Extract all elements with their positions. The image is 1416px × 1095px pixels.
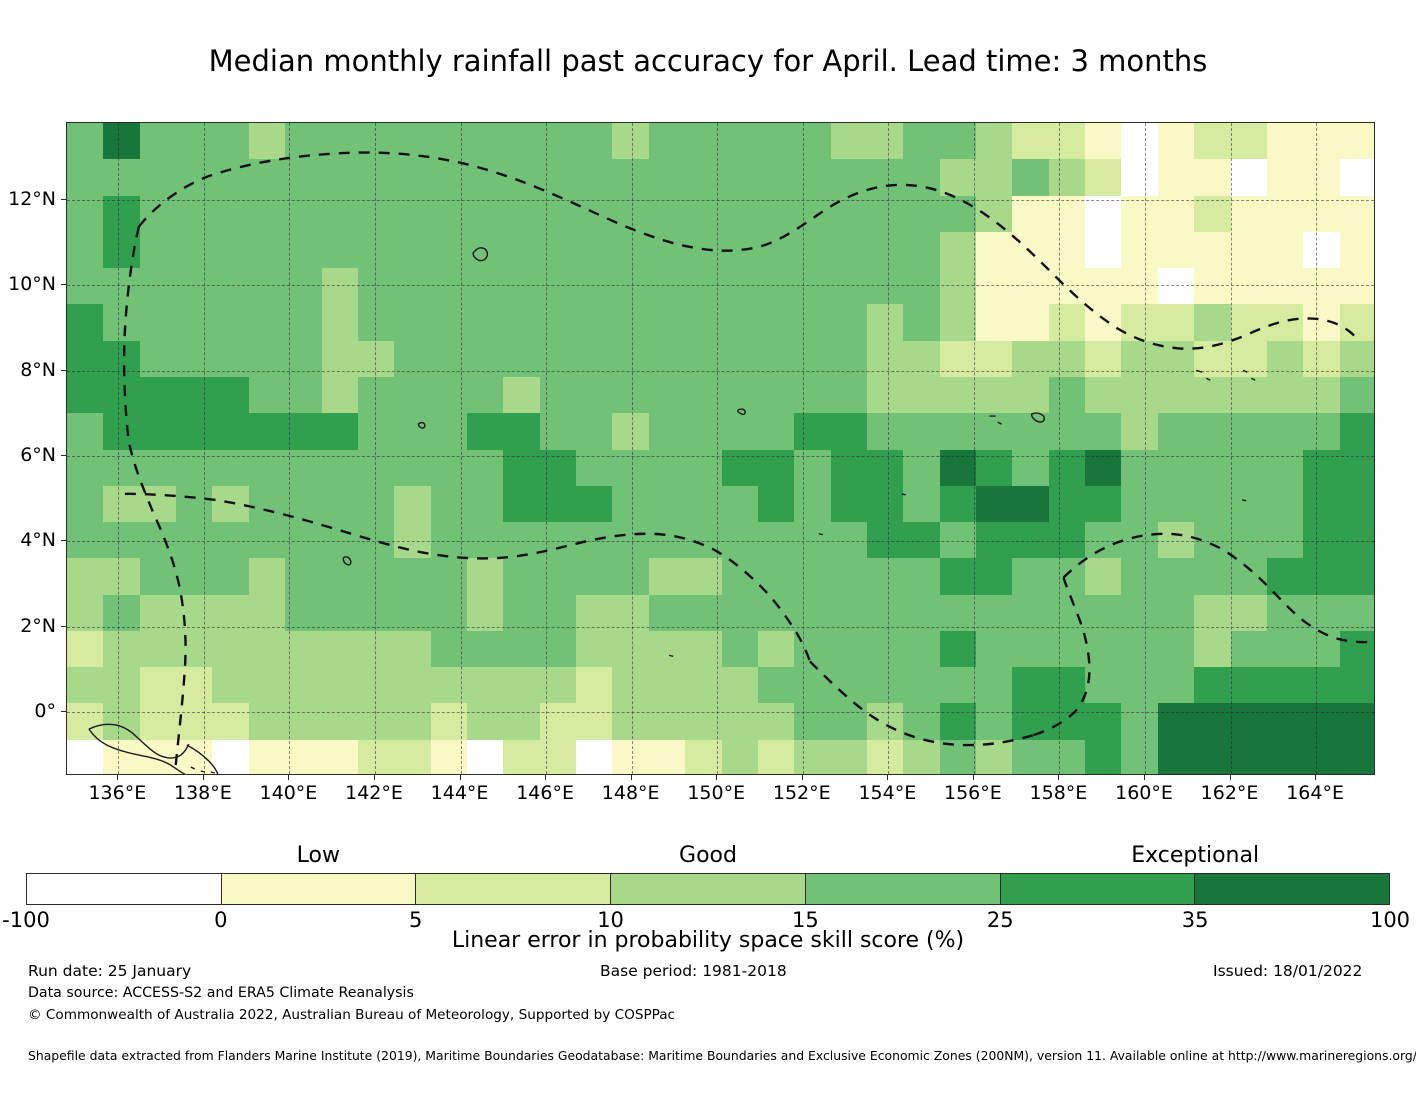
heatmap-cell (1121, 667, 1158, 704)
heatmap-cell (358, 450, 395, 487)
heatmap-cell (976, 413, 1013, 450)
heatmap-cell (1158, 232, 1195, 269)
heatmap-cell (1267, 123, 1304, 160)
colorbar-segment (415, 874, 610, 904)
heatmap-cell (467, 341, 504, 378)
heatmap-cell (831, 595, 868, 632)
heatmap-cell (285, 268, 322, 305)
heatmap-cell (1049, 304, 1086, 341)
heatmap-cell (903, 123, 940, 160)
heatmap-cell (1267, 196, 1304, 233)
x-tick-mark (117, 775, 118, 780)
heatmap-cell (285, 450, 322, 487)
heatmap-cell (431, 740, 468, 775)
heatmap-cell (794, 486, 831, 523)
heatmap-cell (685, 123, 722, 160)
heatmap-cell (1012, 486, 1049, 523)
heatmap-cell (540, 123, 577, 160)
heatmap-cell (867, 631, 904, 668)
heatmap-cell (431, 703, 468, 740)
heatmap-cell (67, 450, 104, 487)
heatmap-cell (1085, 740, 1122, 775)
heatmap-cell (394, 159, 431, 196)
heatmap-cell (249, 667, 286, 704)
heatmap-cell (1194, 486, 1231, 523)
heatmap-cell (649, 558, 686, 595)
heatmap-cell (140, 703, 177, 740)
heatmap-cell (103, 558, 140, 595)
heatmap-cell (794, 703, 831, 740)
heatmap-cell (722, 522, 759, 559)
heatmap-cell (976, 304, 1013, 341)
heatmap-cell (1012, 232, 1049, 269)
heatmap-cell (576, 268, 613, 305)
heatmap-cell (576, 486, 613, 523)
y-tick-mark (61, 626, 66, 627)
heatmap-cell (1012, 703, 1049, 740)
heatmap-cell (758, 558, 795, 595)
heatmap-cell (1194, 703, 1231, 740)
heatmap-cell (467, 703, 504, 740)
heatmap-cell (612, 159, 649, 196)
heatmap-cell (576, 450, 613, 487)
heatmap-cell (976, 123, 1013, 160)
heatmap-cell (1121, 196, 1158, 233)
heatmap-cell (758, 232, 795, 269)
heatmap-cell (1012, 667, 1049, 704)
heatmap-cell (503, 522, 540, 559)
heatmap-cell (758, 703, 795, 740)
colorbar[interactable] (26, 873, 1390, 905)
y-tick-label: 8°N (0, 359, 56, 381)
heatmap-cell (940, 667, 977, 704)
heatmap-cell (1303, 268, 1340, 305)
heatmap-cell (1121, 631, 1158, 668)
heatmap-cell (394, 413, 431, 450)
heatmap-cell (249, 522, 286, 559)
heatmap-cell (612, 232, 649, 269)
heatmap-cell (1231, 413, 1268, 450)
heatmap-cell (867, 667, 904, 704)
heatmap-cell (867, 595, 904, 632)
heatmap-cell (358, 413, 395, 450)
heatmap-cell (1231, 631, 1268, 668)
heatmap-cell (1303, 667, 1340, 704)
heatmap-cell (1303, 304, 1340, 341)
heatmap-cell (322, 232, 359, 269)
heatmap-cell (67, 196, 104, 233)
heatmap-cell (612, 268, 649, 305)
x-tick-label: 144°E (431, 782, 489, 804)
heatmap-cell (1303, 159, 1340, 196)
heatmap-cell (322, 413, 359, 450)
heatmap-cell (1158, 341, 1195, 378)
heatmap-cell (322, 631, 359, 668)
heatmap-cell (903, 268, 940, 305)
heatmap-cell (103, 631, 140, 668)
heatmap-cell (249, 123, 286, 160)
heatmap-cell (67, 159, 104, 196)
heatmap-cell (1231, 703, 1268, 740)
heatmap-cell (685, 450, 722, 487)
colorbar-category-label: Exceptional (1131, 843, 1259, 868)
heatmap-cell (1267, 450, 1304, 487)
heatmap-cell (358, 196, 395, 233)
heatmap-cell (1049, 341, 1086, 378)
heatmap-cell (794, 595, 831, 632)
heatmap-cell (431, 268, 468, 305)
heatmap-cell (1194, 159, 1231, 196)
heatmap-cell (1121, 558, 1158, 595)
heatmap-cell (612, 558, 649, 595)
heatmap-cell (1267, 232, 1304, 269)
heatmap-cell (576, 341, 613, 378)
heatmap-cell (1340, 268, 1375, 305)
heatmap-cell (1340, 667, 1375, 704)
heatmap-cell (903, 667, 940, 704)
heatmap-cell (867, 268, 904, 305)
heatmap-cell (903, 522, 940, 559)
heatmap-cell (867, 522, 904, 559)
heatmap-cell (976, 159, 1013, 196)
heatmap-cell (212, 377, 249, 414)
heatmap-cell (722, 232, 759, 269)
heatmap-cell (249, 268, 286, 305)
heatmap-cell (976, 450, 1013, 487)
heatmap-cell (1340, 413, 1375, 450)
heatmap-cell (1340, 341, 1375, 378)
heatmap-cell (649, 522, 686, 559)
heatmap-cell (794, 450, 831, 487)
heatmap-cell (540, 159, 577, 196)
heatmap-cell (540, 413, 577, 450)
heatmap-cell (503, 196, 540, 233)
heatmap-cell (576, 304, 613, 341)
heatmap-cell (467, 450, 504, 487)
heatmap-cell (1085, 558, 1122, 595)
colorbar-segment (805, 874, 1000, 904)
heatmap-cell (140, 740, 177, 775)
heatmap-cell (1085, 486, 1122, 523)
heatmap-cell (940, 486, 977, 523)
heatmap-cell (176, 631, 213, 668)
heatmap-cell (467, 123, 504, 160)
y-tick-mark (61, 370, 66, 371)
heatmap-cell (794, 667, 831, 704)
heatmap-cell (431, 232, 468, 269)
heatmap-cell (1340, 595, 1375, 632)
heatmap-cell (1085, 232, 1122, 269)
heatmap-cell (1231, 196, 1268, 233)
heatmap-cell (431, 450, 468, 487)
heatmap-cell (540, 558, 577, 595)
heatmap-cell (249, 377, 286, 414)
heatmap-cell (685, 159, 722, 196)
heatmap-cell (1303, 413, 1340, 450)
heatmap-cell (685, 667, 722, 704)
heatmap-cell (1121, 413, 1158, 450)
heatmap-cell (976, 268, 1013, 305)
heatmap-cell (867, 740, 904, 775)
heatmap-cell (1121, 304, 1158, 341)
heatmap-cell (1158, 595, 1195, 632)
heatmap-cell (67, 413, 104, 450)
heatmap-cell (67, 123, 104, 160)
heatmap-cell (794, 159, 831, 196)
heatmap-cell (612, 522, 649, 559)
heatmap-cell (867, 123, 904, 160)
heatmap-cell (1340, 377, 1375, 414)
heatmap-cell (903, 413, 940, 450)
heatmap-cell (1158, 450, 1195, 487)
x-tick-label: 150°E (687, 782, 745, 804)
heatmap-cell (322, 450, 359, 487)
heatmap-cell (1121, 377, 1158, 414)
heatmap-cell (431, 631, 468, 668)
heatmap-cell (358, 740, 395, 775)
heatmap-cell (540, 268, 577, 305)
heatmap-cell (1267, 268, 1304, 305)
heatmap-cell (176, 341, 213, 378)
heatmap-cell (358, 595, 395, 632)
heatmap-row (67, 740, 1374, 775)
heatmap-cell (212, 196, 249, 233)
heatmap-cell (358, 703, 395, 740)
heatmap-row (67, 595, 1374, 632)
heatmap-cell (285, 486, 322, 523)
heatmap-cell (1158, 667, 1195, 704)
colorbar-segment (27, 874, 221, 904)
heatmap-cell (1049, 667, 1086, 704)
y-tick-label: 2°N (0, 615, 56, 637)
heatmap-cell (940, 740, 977, 775)
heatmap-cell (503, 268, 540, 305)
heatmap-cell (867, 341, 904, 378)
x-tick-label: 138°E (174, 782, 232, 804)
heatmap-cell (722, 341, 759, 378)
heatmap-cell (540, 377, 577, 414)
heatmap-cell (176, 450, 213, 487)
x-tick-label: 152°E (773, 782, 831, 804)
heatmap-cell (1158, 377, 1195, 414)
heatmap-cell (394, 703, 431, 740)
heatmap-cell (1012, 595, 1049, 632)
heatmap-cell (831, 450, 868, 487)
heatmap-cell (722, 268, 759, 305)
colorbar-segment (1000, 874, 1195, 904)
heatmap-cell (1194, 522, 1231, 559)
heatmap-cell (467, 522, 504, 559)
heatmap-cell (140, 522, 177, 559)
heatmap-cell (1158, 486, 1195, 523)
x-tick-label: 160°E (1115, 782, 1173, 804)
heatmap-cell (67, 304, 104, 341)
heatmap-cell (103, 703, 140, 740)
heatmap-cell (1012, 522, 1049, 559)
heatmap-cell (1267, 740, 1304, 775)
heatmap-cell (1121, 159, 1158, 196)
heatmap-cell (1340, 558, 1375, 595)
heatmap-cell (576, 123, 613, 160)
heatmap-cell (249, 196, 286, 233)
heatmap-cell (903, 304, 940, 341)
heatmap-cell (394, 196, 431, 233)
heatmap-cell (758, 196, 795, 233)
heatmap-cell (1012, 450, 1049, 487)
heatmap-cell (67, 667, 104, 704)
heatmap-cell (794, 123, 831, 160)
heatmap-cell (1012, 740, 1049, 775)
heatmap-cell (612, 341, 649, 378)
heatmap-cell (649, 740, 686, 775)
heatmap-cell (649, 703, 686, 740)
heatmap-cell (176, 268, 213, 305)
heatmap-cell (1340, 196, 1375, 233)
heatmap-cell (540, 631, 577, 668)
heatmap-cell (722, 196, 759, 233)
heatmap-cell (503, 341, 540, 378)
heatmap-row (67, 558, 1374, 595)
heatmap-cell (212, 159, 249, 196)
heatmap-cell (140, 159, 177, 196)
heatmap-cell (176, 413, 213, 450)
heatmap-cell (1158, 413, 1195, 450)
heatmap-cell (540, 522, 577, 559)
x-tick-mark (374, 775, 375, 780)
heatmap-cell (576, 595, 613, 632)
heatmap-cell (940, 304, 977, 341)
heatmap-cell (831, 558, 868, 595)
heatmap-cell (1012, 377, 1049, 414)
heatmap-cell (903, 159, 940, 196)
heatmap-cell (831, 341, 868, 378)
footer-shapefile-credit: Shapefile data extracted from Flanders M… (28, 1048, 1416, 1063)
heatmap-cell (212, 703, 249, 740)
x-tick-label: 156°E (944, 782, 1002, 804)
heatmap-cell (685, 522, 722, 559)
colorbar-category-label: Good (679, 843, 737, 868)
heatmap-cell (831, 196, 868, 233)
heatmap-cell (249, 450, 286, 487)
heatmap-cell (176, 667, 213, 704)
y-tick-label: 12°N (0, 188, 56, 210)
heatmap-cell (1267, 667, 1304, 704)
heatmap-cell (249, 703, 286, 740)
heatmap-cell (212, 123, 249, 160)
heatmap-cell (467, 413, 504, 450)
heatmap-cell (1012, 631, 1049, 668)
heatmap-cell (212, 667, 249, 704)
heatmap-cell (831, 486, 868, 523)
heatmap-cell (1085, 377, 1122, 414)
heatmap-cell (1267, 522, 1304, 559)
heatmap-cell (722, 631, 759, 668)
heatmap-cell (903, 558, 940, 595)
heatmap-cell (431, 667, 468, 704)
heatmap-cell (903, 595, 940, 632)
heatmap-cell (940, 413, 977, 450)
heatmap-cell (212, 304, 249, 341)
heatmap-cell (67, 486, 104, 523)
heatmap-cell (1267, 341, 1304, 378)
heatmap-cell (1049, 196, 1086, 233)
heatmap-cell (540, 703, 577, 740)
heatmap-cell (467, 377, 504, 414)
heatmap-cell (1303, 558, 1340, 595)
map-plot-area[interactable] (66, 122, 1375, 775)
heatmap-cell (103, 595, 140, 632)
heatmap-cell (1121, 703, 1158, 740)
heatmap-cell (103, 522, 140, 559)
heatmap-cell (867, 558, 904, 595)
heatmap-cell (1303, 486, 1340, 523)
heatmap-cell (794, 522, 831, 559)
footer-issued-date: Issued: 18/01/2022 (1213, 962, 1362, 980)
x-tick-mark (631, 775, 632, 780)
heatmap-cell (358, 631, 395, 668)
heatmap-cell (649, 268, 686, 305)
heatmap-cell (940, 159, 977, 196)
heatmap-cell (1194, 558, 1231, 595)
x-tick-label: 154°E (858, 782, 916, 804)
heatmap-cell (431, 486, 468, 523)
heatmap-cell (1267, 558, 1304, 595)
heatmap-cell (1049, 486, 1086, 523)
heatmap-cell (940, 341, 977, 378)
heatmap-cell (140, 486, 177, 523)
heatmap-cell (940, 558, 977, 595)
heatmap-cell (1231, 341, 1268, 378)
heatmap-cell (176, 196, 213, 233)
heatmap-cell (1012, 341, 1049, 378)
heatmap-cell (322, 740, 359, 775)
heatmap-cell (903, 196, 940, 233)
heatmap-cell (940, 268, 977, 305)
heatmap-row (67, 341, 1374, 378)
heatmap-cell (831, 304, 868, 341)
heatmap-cell (1267, 159, 1304, 196)
heatmap-cell (903, 703, 940, 740)
heatmap-cell (1194, 377, 1231, 414)
heatmap-cell (685, 703, 722, 740)
heatmap-cell (1231, 740, 1268, 775)
heatmap-cell (1340, 740, 1375, 775)
heatmap-cell (649, 123, 686, 160)
heatmap-cell (722, 667, 759, 704)
heatmap-row (67, 450, 1374, 487)
heatmap-cell (1085, 159, 1122, 196)
heatmap-cell (322, 522, 359, 559)
heatmap-cell (940, 522, 977, 559)
heatmap-cell (1303, 631, 1340, 668)
heatmap-cell (1049, 595, 1086, 632)
heatmap-cell (1231, 595, 1268, 632)
heatmap-cell (1049, 377, 1086, 414)
footer-data-source: Data source: ACCESS-S2 and ERA5 Climate … (28, 985, 414, 1001)
heatmap-cell (612, 740, 649, 775)
heatmap-cell (212, 740, 249, 775)
y-tick-label: 0° (0, 700, 56, 722)
heatmap-cell (1012, 196, 1049, 233)
heatmap-cell (1340, 159, 1375, 196)
heatmap-cell (685, 341, 722, 378)
heatmap-cell (1303, 740, 1340, 775)
heatmap-cell (503, 486, 540, 523)
colorbar-axis-label: Linear error in probability space skill … (26, 928, 1390, 953)
heatmap-cell (1121, 123, 1158, 160)
heatmap-cell (1194, 341, 1231, 378)
heatmap-cell (103, 377, 140, 414)
